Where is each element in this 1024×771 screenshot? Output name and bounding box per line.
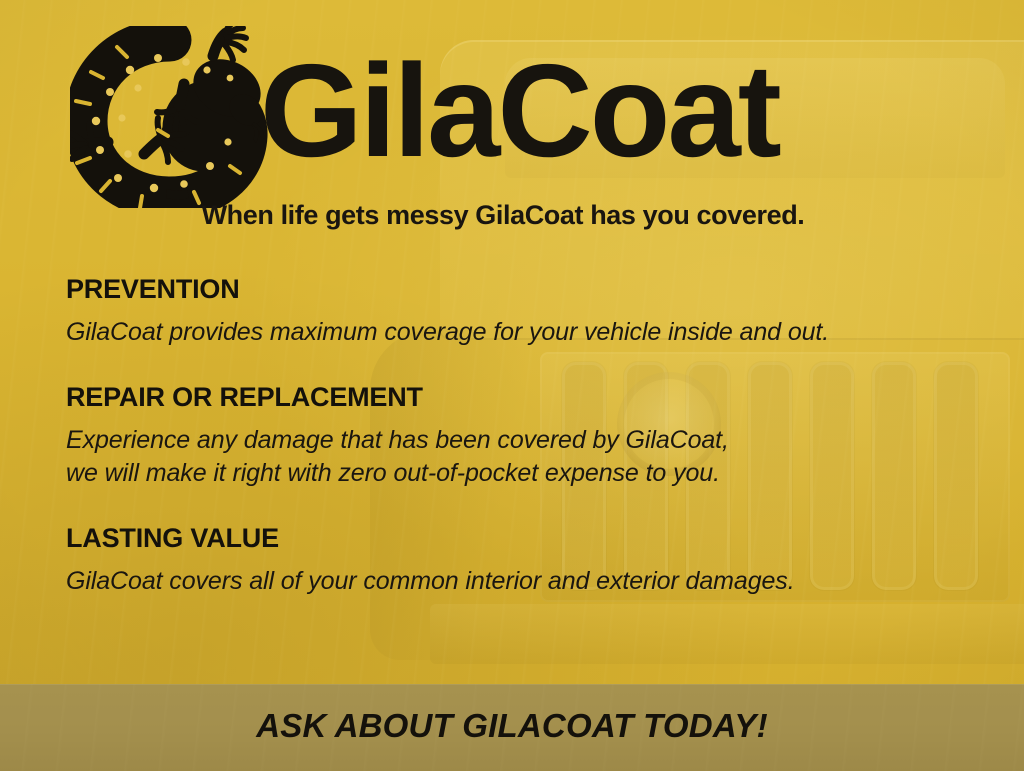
jeep-bumper-shape-icon	[430, 604, 1024, 664]
section-heading: LASTING VALUE	[66, 523, 976, 554]
section-heading: PREVENTION	[66, 274, 976, 305]
section-body-line: we will make it right with zero out-of-p…	[66, 457, 976, 490]
brand-lockup: GilaCoat	[64, 22, 964, 207]
feature-section-prevention: PREVENTION GilaCoat provides maximum cov…	[66, 274, 976, 349]
section-body-line: GilaCoat provides maximum coverage for y…	[66, 316, 976, 349]
section-body-line: GilaCoat covers all of your common inter…	[66, 565, 976, 598]
section-heading: REPAIR OR REPLACEMENT	[66, 382, 976, 413]
section-body: Experience any damage that has been cove…	[66, 424, 976, 490]
section-body: GilaCoat provides maximum coverage for y…	[66, 316, 976, 349]
gilacoat-poster: GilaCoat When life gets messy GilaCoat h…	[0, 0, 1024, 771]
gila-monster-lizard-icon	[70, 26, 270, 208]
call-to-action-text[interactable]: ASK ABOUT GILACOAT TODAY!	[0, 684, 1024, 771]
brand-tagline: When life gets messy GilaCoat has you co…	[0, 200, 1024, 231]
brand-wordmark: GilaCoat	[260, 20, 779, 202]
feature-sections: PREVENTION GilaCoat provides maximum cov…	[66, 274, 976, 598]
section-body: GilaCoat covers all of your common inter…	[66, 565, 976, 598]
feature-section-repair-or-replacement: REPAIR OR REPLACEMENT Experience any dam…	[66, 382, 976, 490]
footer-band: ASK ABOUT GILACOAT TODAY!	[0, 684, 1024, 771]
feature-section-lasting-value: LASTING VALUE GilaCoat covers all of you…	[66, 523, 976, 598]
section-body-line: Experience any damage that has been cove…	[66, 424, 976, 457]
